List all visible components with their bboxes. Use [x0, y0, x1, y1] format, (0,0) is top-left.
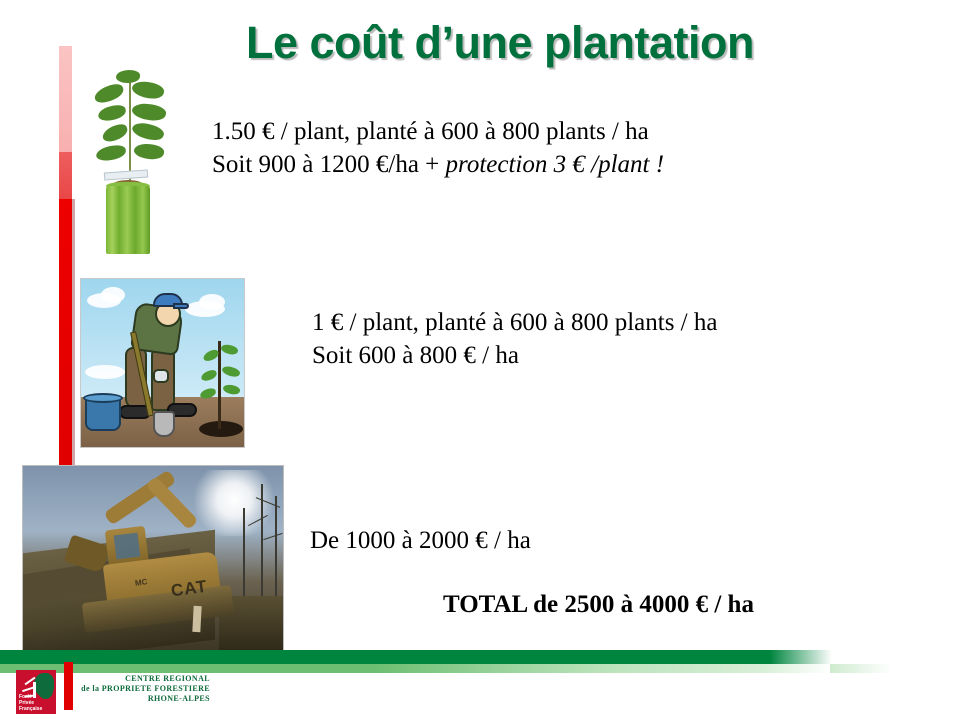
organisation-line2: de la PROPRIETE FORESTIERE: [70, 684, 210, 694]
page-title: Le coût d’une plantation: [150, 18, 850, 68]
total-cost-line: TOTAL de 2500 à 4000 € / ha: [443, 589, 754, 622]
footer-green-bar-dark-fade: [770, 650, 832, 664]
excavator-photo: MC CAT: [22, 465, 284, 653]
cost-line-italic: protection 3 € /plant !: [446, 151, 665, 178]
worker-glove: [153, 369, 169, 383]
cost-block-soil-prep: De 1000 à 2000 € / ha: [310, 525, 531, 558]
organisation-line3: RHONE-ALPES: [70, 694, 210, 704]
bucket-rim: [83, 393, 123, 403]
left-accent-bar: [59, 46, 72, 465]
excavator-cab-window: [114, 533, 141, 560]
bare-tree: [275, 496, 277, 604]
footer-green-bar-dark: [0, 650, 770, 664]
organisation-line1: CENTRE REGIONAL: [70, 674, 210, 684]
cost-line-plain: Soit 900 à 1200 €/ha +: [212, 151, 446, 178]
cost-block-seedling: 1.50 € / plant, planté à 600 à 800 plant…: [212, 116, 664, 181]
planting-hole: [199, 421, 243, 437]
cloud-icon: [85, 365, 125, 379]
wooden-post: [192, 606, 201, 632]
cost-line: 1 € / plant, planté à 600 à 800 plants /…: [312, 307, 717, 340]
footer-green-bar-light: [0, 664, 830, 673]
cloud-icon: [101, 287, 125, 303]
footer-green-bar-light-fade: [830, 664, 892, 673]
spade-blade: [153, 411, 175, 437]
bare-tree: [243, 508, 245, 604]
accent-bar-segment-top: [59, 46, 72, 152]
seedling-in-shelter-image: [80, 58, 176, 254]
organisation-name: CENTRE REGIONAL de la PROPRIETE FORESTIE…: [70, 674, 210, 704]
logo-text-line3: Française: [19, 706, 42, 712]
accent-bar-shadow: [72, 199, 75, 465]
seedling-stem: [129, 80, 131, 184]
cost-block-planting: 1 € / plant, planté à 600 à 800 plants /…: [312, 307, 717, 372]
foret-privee-francaise-logo: Forêt Privée Française: [16, 670, 56, 714]
bare-tree: [261, 484, 263, 604]
logo-text: Forêt Privée Française: [19, 694, 42, 712]
cloud-icon: [199, 294, 225, 310]
sun-glare: [191, 470, 277, 536]
cost-line: De 1000 à 2000 € / ha: [310, 525, 531, 558]
excavator-model-label: MC: [134, 577, 148, 588]
cost-line: 1.50 € / plant, planté à 600 à 800 plant…: [212, 116, 664, 149]
worker-cap-brim: [173, 303, 189, 309]
accent-bar-segment-bottom: [59, 199, 72, 465]
accent-bar-segment-middle: [59, 152, 72, 199]
tree-shelter-tube: [106, 186, 150, 254]
cost-line: Soit 600 à 800 € / ha: [312, 340, 717, 373]
cost-line: Soit 900 à 1200 €/ha + protection 3 € /p…: [212, 149, 664, 182]
worker-planting-illustration: [80, 278, 245, 448]
